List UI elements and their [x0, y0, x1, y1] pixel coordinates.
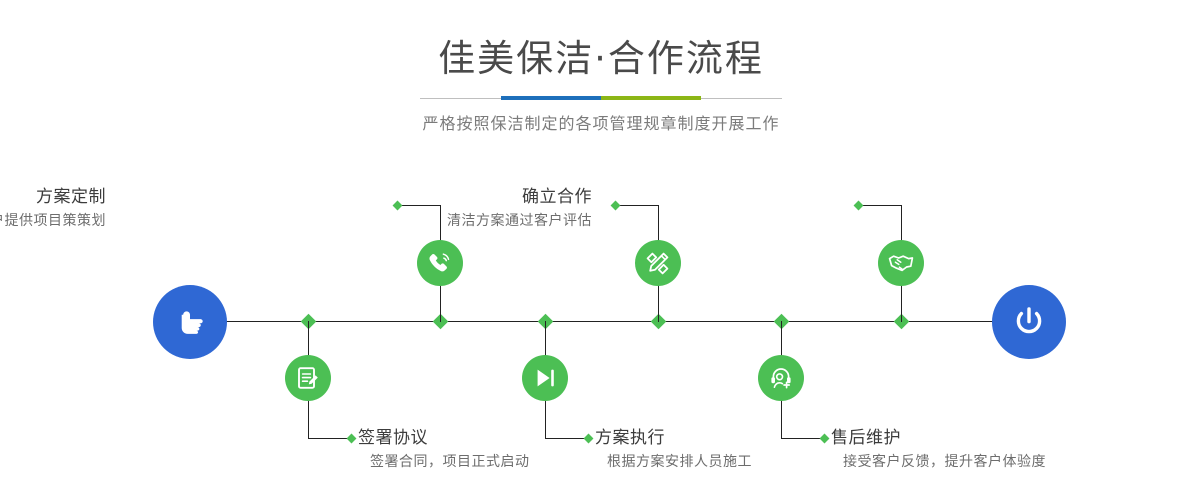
step-icon-document-edit[interactable]	[285, 355, 331, 401]
step-title: 方案定制	[0, 186, 106, 209]
step-description: 接受客户反馈，提升客户体验度	[831, 450, 1046, 473]
pencil-ruler-icon	[645, 250, 671, 276]
play-next-icon	[532, 365, 558, 391]
branch-horizontal-line	[398, 205, 440, 206]
phone-call-icon	[426, 249, 454, 277]
power-icon	[1008, 301, 1050, 343]
step-title: 签署协议	[358, 427, 530, 450]
step-icon-play-next[interactable]	[522, 355, 568, 401]
step-label-4: 方案执行 根据方案安排人员施工	[595, 427, 752, 473]
customer-support-icon	[768, 365, 794, 391]
step-label-5: 确立合作 清洁方案通过客户评估	[447, 186, 592, 232]
branch-horizontal-line	[545, 438, 587, 439]
process-timeline: 电话咨询 阐明基本情况和需求	[0, 0, 1202, 502]
document-edit-icon	[295, 365, 321, 391]
step-title: 方案执行	[595, 427, 752, 450]
timeline-end-node[interactable]	[992, 285, 1066, 359]
pointing-hand-icon	[170, 302, 210, 342]
step-description: 签署合同，项目正式启动	[358, 450, 530, 473]
step-description: 根据方案安排人员施工	[595, 450, 752, 473]
branch-tip-marker	[820, 434, 830, 444]
branch-tip-marker	[584, 434, 594, 444]
branch-tip-marker	[347, 434, 357, 444]
step-icon-phone-call[interactable]	[417, 240, 463, 286]
branch-horizontal-line	[781, 438, 823, 439]
step-icon-pencil-ruler[interactable]	[635, 240, 681, 286]
flow-diagram-page: 佳美保洁·合作流程 严格按照保洁制定的各项管理规章制度开展工作	[0, 0, 1202, 502]
step-icon-handshake[interactable]	[878, 240, 924, 286]
branch-tip-marker	[393, 201, 403, 211]
step-title: 售后维护	[831, 427, 1046, 450]
step-icon-customer-support[interactable]	[758, 355, 804, 401]
step-title: 确立合作	[447, 186, 592, 209]
branch-tip-marker	[611, 201, 621, 211]
step-label-2: 签署协议 签署合同，项目正式启动	[358, 427, 530, 473]
branch-horizontal-line	[308, 438, 350, 439]
timeline-start-node[interactable]	[153, 285, 227, 359]
step-description: 清洁方案通过客户评估	[447, 209, 592, 232]
branch-horizontal-line	[859, 205, 901, 206]
branch-tip-marker	[854, 201, 864, 211]
step-label-3: 方案定制 为客户提供项目策策划	[0, 186, 106, 232]
step-description: 为客户提供项目策策划	[0, 209, 106, 232]
branch-horizontal-line	[616, 205, 658, 206]
step-label-6: 售后维护 接受客户反馈，提升客户体验度	[831, 427, 1046, 473]
handshake-icon	[887, 249, 915, 277]
